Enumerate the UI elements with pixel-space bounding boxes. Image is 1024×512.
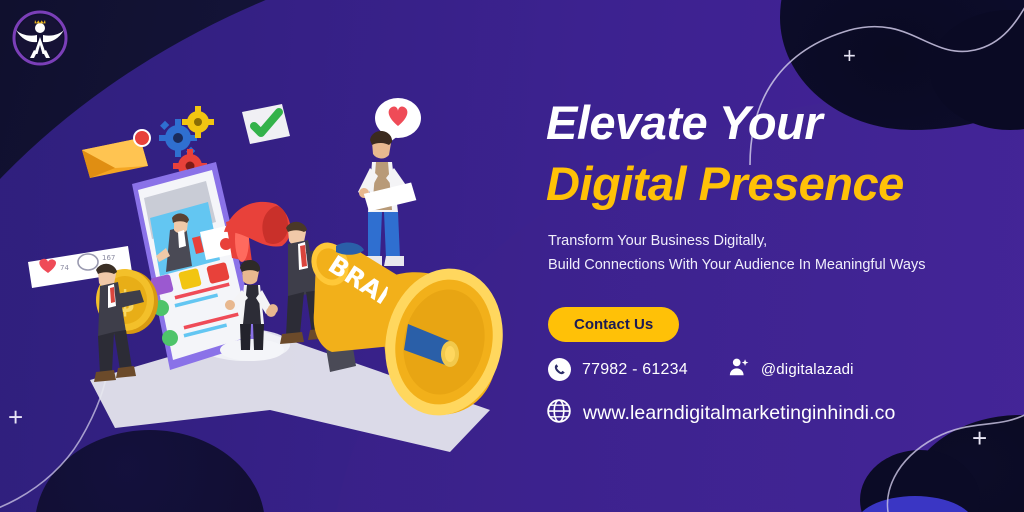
social-contact[interactable]: @digitalazadi [728,356,854,383]
svg-text:74: 74 [60,264,69,272]
contact-row: 77982 - 61234 @digitalazadi [548,356,854,383]
subtitle-line-2: Build Connections With Your Audience In … [548,257,926,273]
subtitle: Transform Your Business Digitally, Build… [548,230,926,278]
isometric-smartphone [132,162,258,370]
envelope-icon [82,129,151,178]
headline-line-2: Digital Presence [546,153,904,214]
page-title: Elevate Your Digital Presence [546,92,904,214]
man-reading-document [358,131,417,266]
contact-us-button[interactable]: Contact Us [548,307,679,342]
hero-illustration: 74 167 [20,80,540,480]
brand-logo[interactable] [8,6,72,70]
subtitle-line-1: Transform Your Business Digitally, [548,233,767,249]
content-column: Elevate Your Digital Presence Transform … [546,0,1006,512]
checkmark-icon [242,104,290,144]
svg-text:167: 167 [102,254,115,262]
phone-contact[interactable]: 77982 - 61234 [548,358,688,381]
phone-number: 77982 - 61234 [582,361,688,379]
globe-icon [546,398,572,429]
social-handle: @digitalazadi [761,361,854,378]
phone-icon [548,358,571,381]
website-row[interactable]: www.learndigitalmarketinginhindi.co [546,398,895,429]
marketing-banner: + + + [0,0,1024,512]
headline-line-1: Elevate Your [546,96,822,149]
user-plus-icon [728,356,750,383]
website-url: www.learndigitalmarketinginhindi.co [583,402,895,425]
